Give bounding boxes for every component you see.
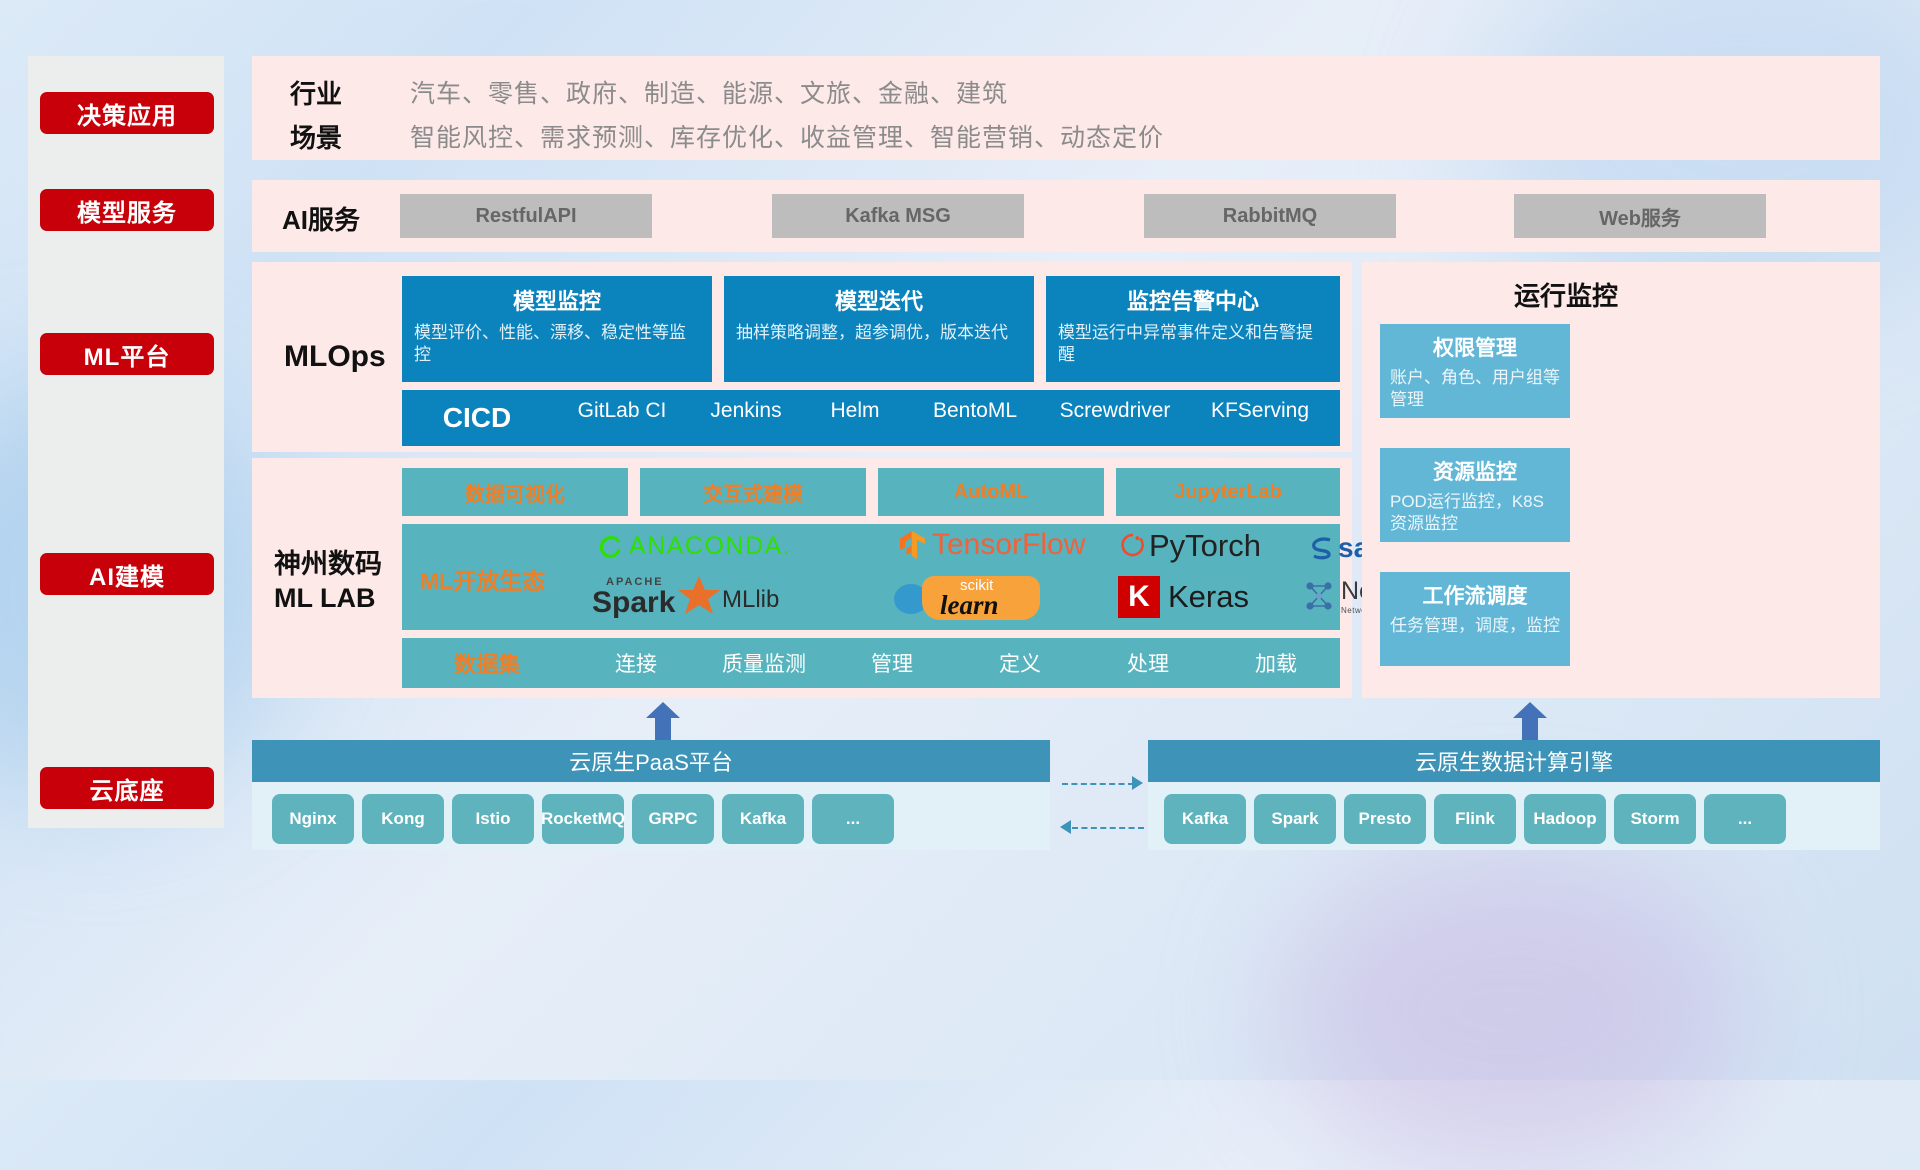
cloud-paas-box: 云原生PaaS平台 Nginx Kong Istio RocketMQ GRPC… [252,740,1050,850]
layer-label-text: 模型服务 [77,193,177,228]
cicd-item-kfserving[interactable]: KFServing [1190,390,1330,446]
anaconda-logo: ANACONDA . [598,532,790,561]
ml-open-ecosystem-band: ML开放生态 ANACONDA . TensorFlow [402,524,1340,630]
tab-interactive-modeling[interactable]: 交互式建模 [640,468,866,516]
dashed-arrowhead-left [1060,820,1071,834]
chip-rocketmq[interactable]: RocketMQ [542,794,624,844]
anaconda-logo-text: ANACONDA [629,532,783,561]
mllib-logo-text: MLlib [722,586,779,614]
runtime-monitoring-panel: 运行监控 权限管理 账户、角色、用户组等管理 资源监控 POD运行监控，K8S资… [1362,262,1880,698]
ml-open-ecosystem-label: ML开放生态 [420,562,545,596]
chip-more-left[interactable]: ... [812,794,894,844]
cloud-paas-title: 云原生PaaS平台 [252,740,1050,782]
chip-hadoop[interactable]: Hadoop [1524,794,1606,844]
chip-grpc[interactable]: GRPC [632,794,714,844]
apache-spark-mllib-logo: APACHE Spark MLlib [592,578,779,622]
mlops-card-model-iteration[interactable]: 模型迭代 抽样策略调整，超参调优，版本迭代 [724,276,1034,382]
ai-service-button-kafka-msg[interactable]: Kafka MSG [772,194,1024,238]
networkx-graph-icon [1302,576,1338,616]
layer-label-ml-platform[interactable]: ML平台 [40,333,214,375]
mlops-panel: MLOps 模型监控 模型评价、性能、漂移、稳定性等监控 模型迭代 抽样策略调整… [252,262,1352,452]
cicd-item-bentoml[interactable]: BentoML [910,390,1040,446]
sas-swirl-icon [1308,535,1336,561]
decision-app-panel: 行业 汽车、零售、政府、制造、能源、文旅、金融、建筑 场景 智能风控、需求预测、… [252,56,1880,160]
layer-label-text: 决策应用 [77,96,177,131]
pytorch-logo: PyTorch [1120,528,1261,564]
dataset-item-manage[interactable]: 管理 [828,648,956,678]
layer-label-model-service[interactable]: 模型服务 [40,189,214,231]
card-desc: 模型运行中异常事件定义和告警提醒 [1058,322,1328,367]
tensorflow-logo-text: TensorFlow [932,528,1085,562]
scenario-label: 场景 [290,118,342,155]
anaconda-logo-dot: . [783,532,790,561]
ai-service-button-restfulapi[interactable]: RestfulAPI [400,194,652,238]
keras-k-text: K [1128,580,1150,614]
dataset-item-process[interactable]: 处理 [1084,648,1212,678]
runtime-monitoring-title: 运行监控 [1252,276,1880,313]
dashed-line-left [1072,827,1144,829]
card-desc: 抽样策略调整，超参调优，版本迭代 [736,322,1022,344]
layer-label-ai-modeling[interactable]: AI建模 [40,553,214,595]
card-title: 模型迭代 [736,284,1022,316]
ml-lab-label: 神州数码 ML LAB [274,548,404,616]
ml-lab-label-line1: 神州数码 [274,548,404,582]
card-title: 权限管理 [1390,332,1560,362]
spark-star-icon [676,574,722,616]
ai-service-button-web-service[interactable]: Web服务 [1514,194,1766,238]
cicd-item-helm[interactable]: Helm [800,390,910,446]
monitoring-card-resource[interactable]: 资源监控 POD运行监控，K8S资源监控 [1380,448,1570,542]
layer-label-decision-app[interactable]: 决策应用 [40,92,214,134]
tab-jupyterlab[interactable]: JupyterLab [1116,468,1340,516]
cicd-item-gitlab-ci[interactable]: GitLab CI [552,390,692,446]
ai-service-button-rabbitmq[interactable]: RabbitMQ [1144,194,1396,238]
spark-logo-text: Spark [592,586,675,620]
ml-lab-label-line2: ML LAB [274,582,404,616]
dashed-arrowhead-right [1132,776,1143,790]
dataset-item-quality[interactable]: 质量监测 [700,648,828,678]
cloud-data-engine-box: 云原生数据计算引擎 Kafka Spark Presto Flink Hadoo… [1148,740,1880,850]
card-desc: 账户、角色、用户组等管理 [1390,367,1560,411]
cicd-label: CICD [402,402,552,434]
cloud-data-engine-title: 云原生数据计算引擎 [1148,740,1880,782]
mlops-label: MLOps [284,340,386,374]
layer-label-cloud-base[interactable]: 云底座 [40,767,214,809]
keras-logo-text: Keras [1168,579,1249,615]
dashed-line-right [1062,783,1134,785]
card-desc: 模型评价、性能、漂移、稳定性等监控 [414,322,700,367]
chip-storm[interactable]: Storm [1614,794,1696,844]
pytorch-flame-icon [1120,531,1146,561]
chip-spark[interactable]: Spark [1254,794,1336,844]
layer-label-text: ML平台 [84,337,171,372]
chip-istio[interactable]: Istio [452,794,534,844]
layer-label-text: 云底座 [90,771,165,806]
ai-modeling-panel: 神州数码 ML LAB 数据可视化 交互式建模 AutoML JupyterLa… [252,458,1352,698]
mlops-card-model-monitoring[interactable]: 模型监控 模型评价、性能、漂移、稳定性等监控 [402,276,712,382]
scenario-value: 智能风控、需求预测、库存优化、收益管理、智能营销、动态定价 [410,118,1164,154]
industry-label: 行业 [290,74,342,111]
spark-wordmark: APACHE Spark [592,578,718,622]
dataset-row: 数据集 连接 质量监测 管理 定义 处理 加载 [402,638,1340,688]
card-title: 资源监控 [1390,456,1560,486]
monitoring-card-workflow[interactable]: 工作流调度 任务管理，调度，监控 [1380,572,1570,666]
dataset-item-connect[interactable]: 连接 [572,648,700,678]
chip-kong[interactable]: Kong [362,794,444,844]
card-desc: 任务管理，调度，监控 [1390,615,1560,637]
learn-text: learn [940,590,999,621]
chip-more-right[interactable]: ... [1704,794,1786,844]
chip-kafka[interactable]: Kafka [722,794,804,844]
tab-automl[interactable]: AutoML [878,468,1104,516]
layer-label-text: AI建模 [89,557,165,592]
industry-value: 汽车、零售、政府、制造、能源、文旅、金融、建筑 [410,74,1008,110]
pytorch-logo-text: PyTorch [1149,528,1261,564]
ai-service-panel: AI服务 RestfulAPI Kafka MSG RabbitMQ Web服务 [252,180,1880,252]
dataset-item-define[interactable]: 定义 [956,648,1084,678]
tab-data-visualization[interactable]: 数据可视化 [402,468,628,516]
layer-label-column: 决策应用 模型服务 ML平台 AI建模 云底座 [28,56,224,828]
chip-flink[interactable]: Flink [1434,794,1516,844]
card-title: 工作流调度 [1390,580,1560,610]
anaconda-ring-icon [598,534,624,560]
monitoring-card-permission[interactable]: 权限管理 账户、角色、用户组等管理 [1380,324,1570,418]
card-title: 模型监控 [414,284,700,316]
chip-presto[interactable]: Presto [1344,794,1426,844]
chip-nginx[interactable]: Nginx [272,794,354,844]
dataset-item-load[interactable]: 加载 [1212,648,1340,678]
dataset-label: 数据集 [402,647,572,679]
tensorflow-logo: TensorFlow [898,528,1085,562]
tensorflow-glyph-icon [898,529,928,561]
cicd-bar: CICD GitLab CI Jenkins Helm BentoML Scre… [402,390,1340,446]
chip-kafka-right[interactable]: Kafka [1164,794,1246,844]
ai-service-label: AI服务 [282,200,360,237]
keras-k-badge-icon: K [1118,576,1160,618]
keras-logo: K Keras [1118,576,1249,618]
cicd-item-jenkins[interactable]: Jenkins [692,390,800,446]
card-desc: POD运行监控，K8S资源监控 [1390,491,1560,535]
scikit-learn-logo: scikit learn [894,576,1054,622]
cicd-item-screwdriver[interactable]: Screwdriver [1040,390,1190,446]
architecture-diagram: 决策应用 模型服务 ML平台 AI建模 云底座 行业 汽车、零售、政府、制造、能… [0,0,1920,1080]
